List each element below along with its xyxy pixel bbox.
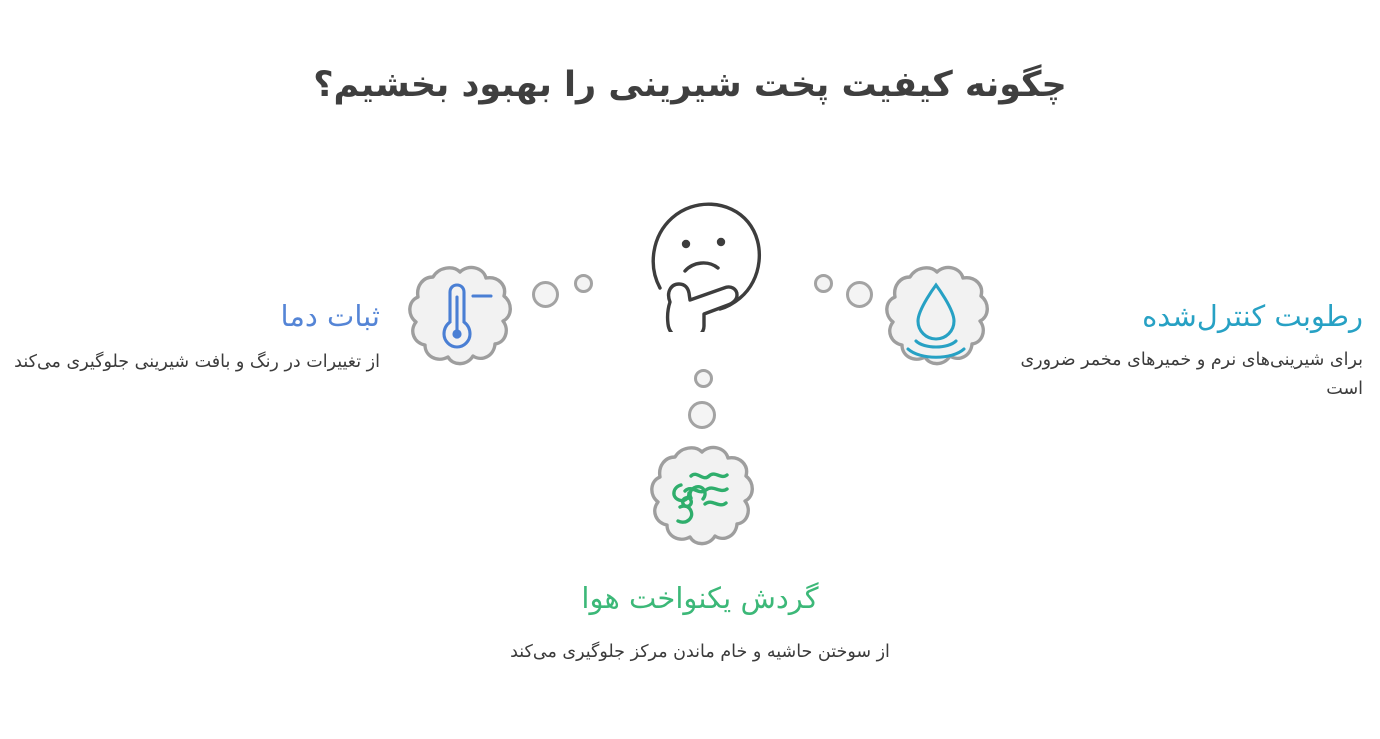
thought-dot-large [688, 401, 716, 429]
thought-dot-small [694, 369, 713, 388]
feature-airflow-heading: گردش یکنواخت هوا [450, 580, 950, 616]
feature-humidity-description: برای شیرینی‌های نرم و خمیرهای مخمر ضروری… [1003, 346, 1363, 403]
thought-dot-small [814, 274, 833, 293]
feature-airflow-description: از سوختن حاشیه و خام ماندن مرکز جلوگیری … [450, 638, 950, 666]
feature-humidity-heading: رطوبت کنترل‌شده [1003, 298, 1363, 334]
feature-temperature: ثبات دما از تغییرات در رنگ و بافت شیرینی… [10, 298, 380, 377]
thought-bubble-temperature [403, 263, 515, 373]
thinking-face-icon [638, 192, 778, 332]
feature-temperature-heading: ثبات دما [10, 298, 380, 334]
feature-airflow: گردش یکنواخت هوا از سوختن حاشیه و خام ما… [450, 580, 950, 667]
thought-dot-large [532, 281, 559, 308]
thought-bubble-humidity [880, 263, 992, 373]
page-title: چگونه کیفیت پخت شیرینی را بهبود بخشیم؟ [0, 62, 1380, 109]
thought-bubble-airflow [645, 443, 757, 553]
thought-dot-small [574, 274, 593, 293]
feature-temperature-description: از تغییرات در رنگ و بافت شیرینی جلوگیری … [10, 348, 380, 376]
thought-dot-large [846, 281, 873, 308]
feature-humidity: رطوبت کنترل‌شده برای شیرینی‌های نرم و خم… [1003, 298, 1363, 403]
